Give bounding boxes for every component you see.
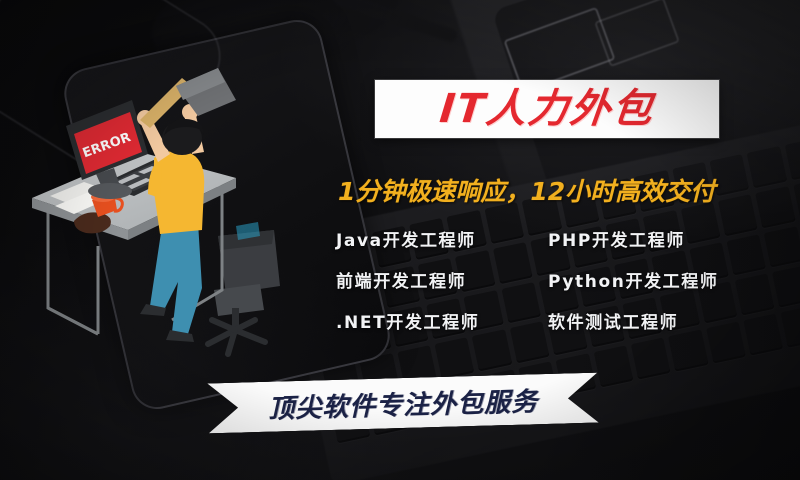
role-item: .NET开发工程师 [336,308,536,333]
ribbon-slogan: 顶尖软件专注外包服务 [268,381,539,426]
page-title: IT人力外包 [438,89,656,129]
role-item: Python开发工程师 [548,267,791,292]
role-list: Java开发工程师 PHP开发工程师 前端开发工程师 Python开发工程师 .… [336,226,791,333]
office-chair [208,222,280,354]
role-item: Java开发工程师 [336,226,536,251]
subtitle-text: 1分钟极速响应，12小时高效交付 [338,172,768,208]
illustration-developer-smashing-desk: ERROR [22,58,322,378]
role-item: PHP开发工程师 [548,226,791,251]
headline-banner: IT人力外包 [375,80,719,138]
poster-root: ERROR [0,0,800,480]
role-item: 软件测试工程师 [548,308,791,333]
role-item: 前端开发工程师 [336,267,536,292]
illustration-svg: ERROR [22,58,322,378]
